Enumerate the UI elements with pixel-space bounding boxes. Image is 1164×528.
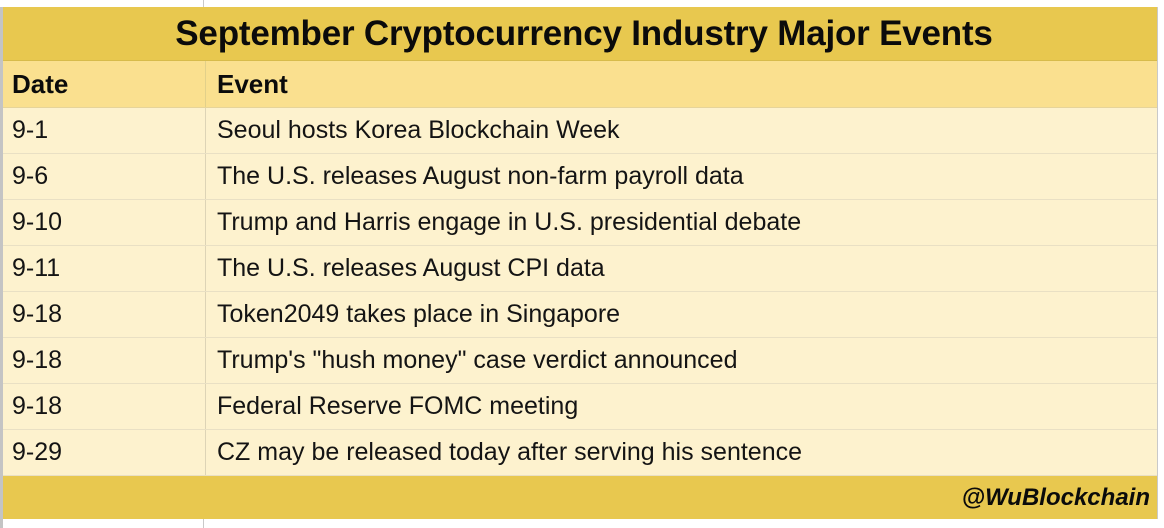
grid-column-divider — [203, 519, 204, 528]
cell-event: Trump and Harris engage in U.S. presiden… — [206, 200, 1157, 245]
table-row: 9-10 Trump and Harris engage in U.S. pre… — [3, 200, 1157, 246]
grid-column-divider — [203, 0, 204, 7]
table-row: 9-18 Trump's "hush money" case verdict a… — [3, 338, 1157, 384]
sheet-top-margin — [0, 0, 1164, 7]
table-row: 9-18 Federal Reserve FOMC meeting — [3, 384, 1157, 430]
events-table: September Cryptocurrency Industry Major … — [0, 7, 1158, 520]
table-row: 9-6 The U.S. releases August non-farm pa… — [3, 154, 1157, 200]
column-header-date: Date — [3, 61, 206, 107]
cell-date: 9-10 — [3, 200, 206, 245]
cell-date: 9-18 — [3, 292, 206, 337]
cell-event: Token2049 takes place in Singapore — [206, 292, 1157, 337]
table-footer-row: @WuBlockchain — [3, 476, 1157, 520]
cell-date: 9-11 — [3, 246, 206, 291]
table-header-row: Date Event — [3, 61, 1157, 108]
cell-date: 9-1 — [3, 108, 206, 153]
cell-date: 9-6 — [3, 154, 206, 199]
sheet-bottom-margin — [0, 519, 1164, 528]
cell-event: The U.S. releases August non-farm payrol… — [206, 154, 1157, 199]
cell-event: Trump's "hush money" case verdict announ… — [206, 338, 1157, 383]
cell-event: Seoul hosts Korea Blockchain Week — [206, 108, 1157, 153]
cell-date: 9-18 — [3, 384, 206, 429]
cell-event: The U.S. releases August CPI data — [206, 246, 1157, 291]
column-header-event: Event — [206, 61, 1157, 107]
table-title-row: September Cryptocurrency Industry Major … — [3, 7, 1157, 61]
table-row: 9-18 Token2049 takes place in Singapore — [3, 292, 1157, 338]
cell-event: CZ may be released today after serving h… — [206, 430, 1157, 475]
table-row: 9-11 The U.S. releases August CPI data — [3, 246, 1157, 292]
cell-date: 9-29 — [3, 430, 206, 475]
spreadsheet-canvas: September Cryptocurrency Industry Major … — [0, 0, 1164, 528]
cell-date: 9-18 — [3, 338, 206, 383]
table-row: 9-29 CZ may be released today after serv… — [3, 430, 1157, 476]
cell-event: Federal Reserve FOMC meeting — [206, 384, 1157, 429]
table-row: 9-1 Seoul hosts Korea Blockchain Week — [3, 108, 1157, 154]
source-handle: @WuBlockchain — [962, 484, 1157, 512]
page-title: September Cryptocurrency Industry Major … — [167, 14, 992, 54]
